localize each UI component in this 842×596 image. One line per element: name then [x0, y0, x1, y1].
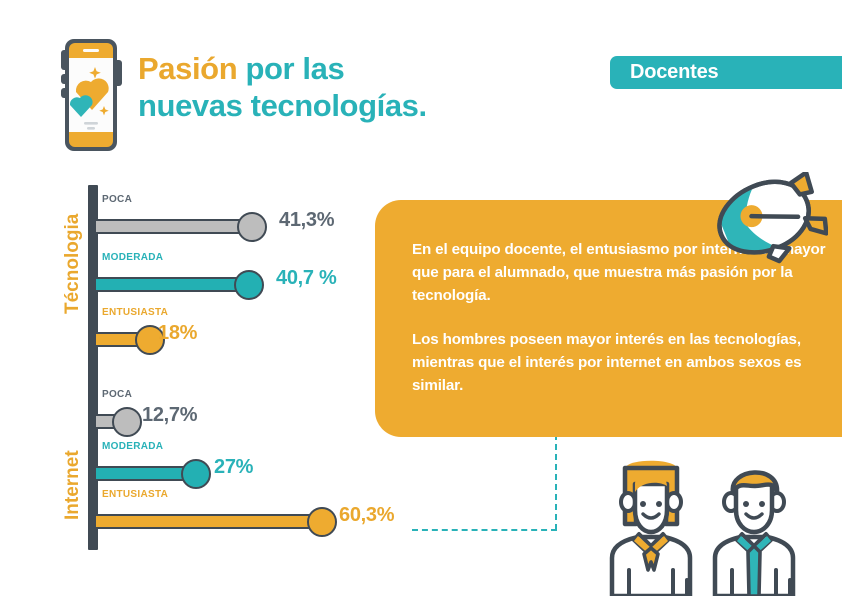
bar-knob — [234, 270, 264, 300]
chart-axis — [88, 185, 98, 550]
bar-value-label: 40,7 % — [276, 267, 336, 290]
bar-value-label: 41,3% — [279, 209, 334, 232]
bar-value-label: 12,7% — [142, 404, 197, 427]
connector-line-vertical — [555, 424, 557, 530]
title-line-2: nuevas tecnologías. — [138, 87, 558, 124]
title-line-1: Pasión por las — [138, 50, 558, 87]
bar-category-label: ENTUSIASTA — [102, 307, 168, 318]
bar-knob — [307, 507, 337, 537]
bar-knob — [181, 459, 211, 489]
bar-category-label: POCA — [102, 194, 132, 205]
group-label-internet: Internet — [62, 450, 84, 520]
bar-track — [96, 277, 249, 292]
bar-category-label: MODERADA — [102, 252, 163, 263]
bar-value-label: 27% — [214, 456, 253, 479]
bar-category-label: ENTUSIASTA — [102, 489, 168, 500]
page-title: Pasión por las nuevas tecnologías. — [138, 50, 558, 124]
callout-paragraph-2: Los hombres poseen mayor interés en las … — [412, 328, 842, 397]
group-label-tecnologia: Técnologia — [62, 214, 84, 314]
bar-category-label: MODERADA — [102, 441, 163, 452]
bar-value-label: 60,3% — [339, 504, 394, 527]
phone-hearts-icon — [52, 36, 128, 154]
bar-category-label: POCA — [102, 389, 132, 400]
bar-value-label: 18% — [158, 322, 197, 345]
audience-badge-label: Docentes — [610, 61, 718, 84]
bar-knob — [237, 212, 267, 242]
two-people-icon — [592, 458, 812, 596]
infographic-canvas: Pasión por las nuevas tecnologías. Docen… — [0, 0, 842, 596]
bar-knob — [112, 407, 142, 437]
bar-track — [96, 219, 252, 234]
title-word-pasion: Pasión — [138, 51, 237, 86]
bar-track — [96, 514, 322, 529]
rocket-icon — [698, 172, 828, 264]
title-line-1-rest: por las — [237, 51, 344, 86]
audience-badge: Docentes — [610, 56, 842, 89]
connector-line-horizontal — [412, 529, 557, 531]
